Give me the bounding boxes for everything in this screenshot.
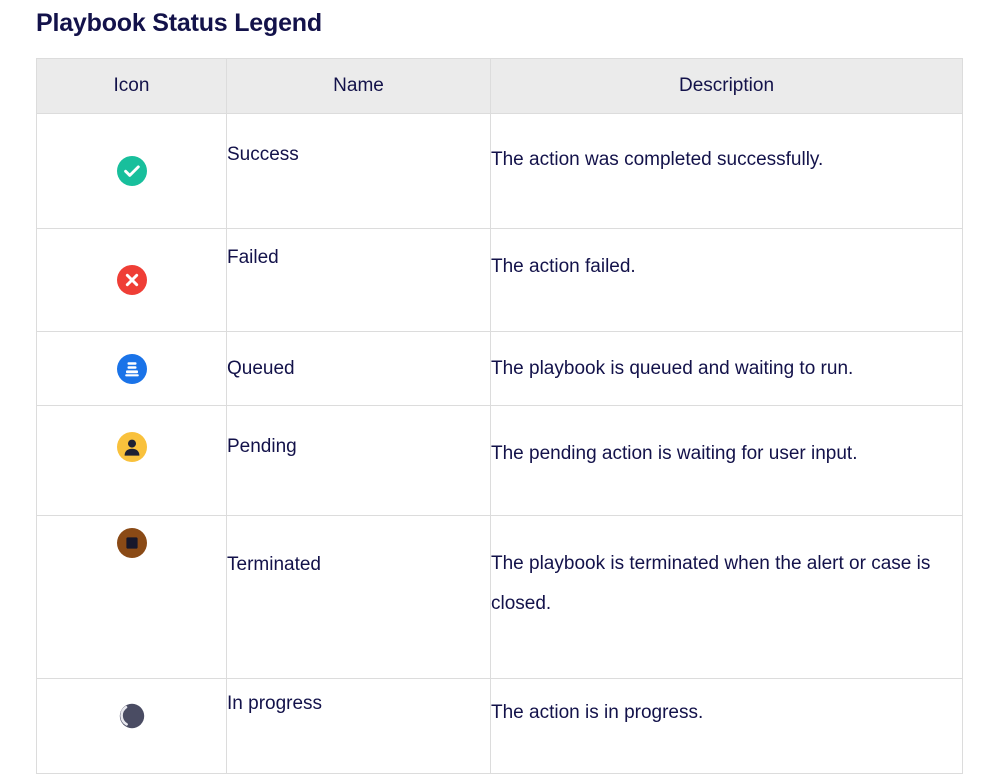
status-description-cell: The playbook is terminated when the aler… <box>491 516 963 679</box>
table-row: Pending The pending action is waiting fo… <box>37 406 963 516</box>
pending-user-icon <box>117 432 147 462</box>
table-header: Icon Name Description <box>37 59 963 114</box>
status-icon-cell <box>37 114 227 229</box>
status-description-cell: The action was completed successfully. <box>491 114 963 229</box>
table-header-row: Icon Name Description <box>37 59 963 114</box>
status-name-cell: Success <box>227 114 491 229</box>
page-title: Playbook Status Legend <box>36 6 322 40</box>
status-description-cell: The playbook is queued and waiting to ru… <box>491 332 963 406</box>
table-row: Terminated The playbook is terminated wh… <box>37 516 963 679</box>
status-icon-cell <box>37 406 227 516</box>
success-check-icon <box>117 156 147 186</box>
status-name-cell: Pending <box>227 406 491 516</box>
status-name-cell: In progress <box>227 679 491 774</box>
status-description-cell: The pending action is waiting for user i… <box>491 406 963 516</box>
terminated-stop-icon <box>117 528 147 558</box>
status-icon-cell <box>37 332 227 406</box>
status-name-cell: Queued <box>227 332 491 406</box>
table-row: Queued The playbook is queued and waitin… <box>37 332 963 406</box>
failed-cross-icon <box>117 265 147 295</box>
table-row: Success The action was completed success… <box>37 114 963 229</box>
status-icon-cell <box>37 516 227 679</box>
queued-stack-icon <box>117 354 147 384</box>
table-row: In progress The action is in progress. <box>37 679 963 774</box>
status-icon-cell <box>37 229 227 332</box>
column-header-icon: Icon <box>37 59 227 114</box>
column-header-name: Name <box>227 59 491 114</box>
status-description-cell: The action failed. <box>491 229 963 332</box>
status-name-cell: Failed <box>227 229 491 332</box>
in-progress-spinner-icon <box>117 701 147 731</box>
column-header-description: Description <box>491 59 963 114</box>
status-name-cell: Terminated <box>227 516 491 679</box>
status-description-cell: The action is in progress. <box>491 679 963 774</box>
legend-table-container: Icon Name Description Success <box>36 58 962 774</box>
playbook-status-legend-page: Playbook Status Legend Icon Name Descrip… <box>0 0 1004 656</box>
status-icon-cell <box>37 679 227 774</box>
playbook-status-legend-table: Icon Name Description Success <box>36 58 963 774</box>
table-row: Failed The action failed. <box>37 229 963 332</box>
table-body: Success The action was completed success… <box>37 114 963 774</box>
